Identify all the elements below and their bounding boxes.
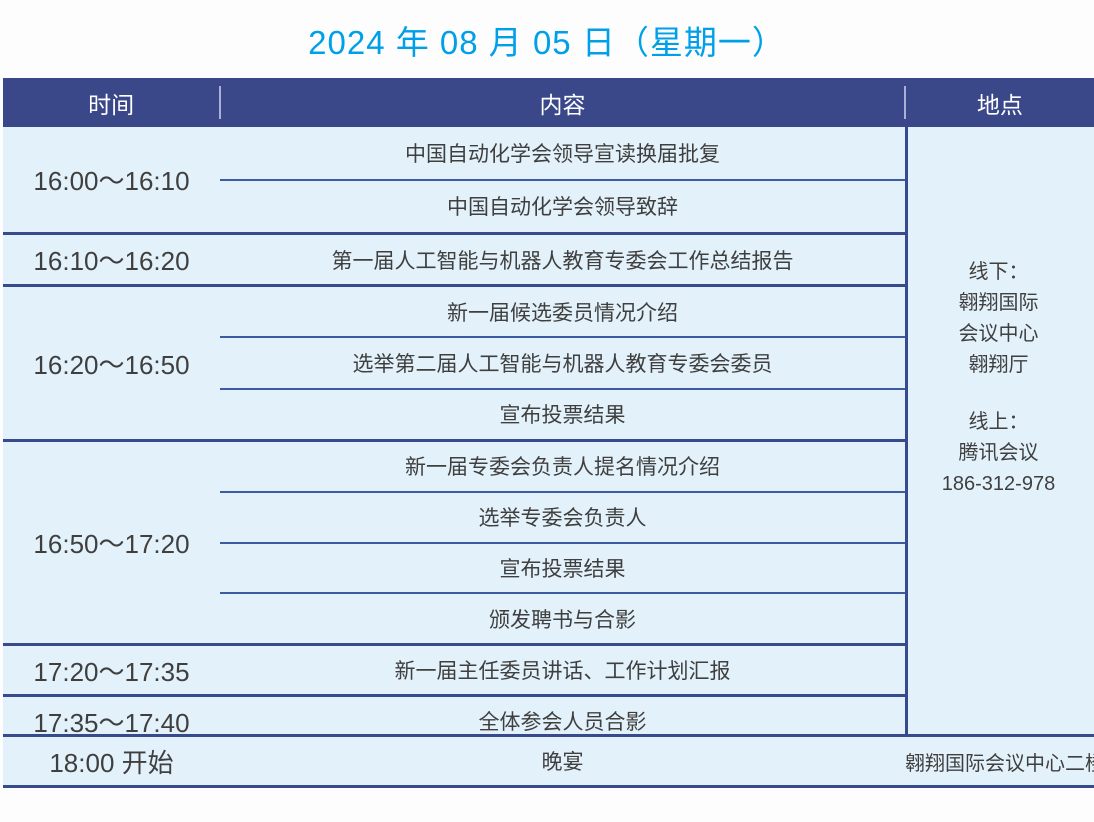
place-offline-line1: 翱翔国际 [905,288,1092,319]
dinner-content: 晚宴 [220,746,905,776]
place-offline-label: 线下： [905,257,1092,288]
content-place-divider [905,127,908,737]
column-header-time: 时间 [3,86,219,120]
table-row-content-group: 新一届专委会负责人提名情况介绍 选举专委会负责人 宣布投票结果 颁发聘书与合影 [220,439,905,643]
schedule-table: 时间 内容 地点 16:00～16:10 16:10～16:20 16:20～1… [3,78,1094,788]
list-item: 新一届候选委员情况介绍 [220,287,905,336]
column-header-content: 内容 [221,86,903,120]
place-online-label: 线上： [905,407,1092,438]
dinner-place: 翱翔国际会议中心二楼 [905,747,1094,776]
list-item: 第一届人工智能与机器人教育专委会工作总结报告 [220,235,905,284]
place-offline-line2: 会议中心 [905,319,1092,350]
table-row-content-group: 第一届人工智能与机器人教育专委会工作总结报告 [220,232,905,284]
table-row-time: 16:00～16:10 [3,127,220,232]
place-online-line2: 186-312-978 [905,469,1092,500]
list-item: 选举专委会负责人 [220,491,905,542]
table-row-content-group: 新一届主任委员讲话、工作计划汇报 [220,643,905,694]
table-row-content-group: 中国自动化学会领导宣读换届批复 中国自动化学会领导致辞 [220,127,905,232]
table-row-time: 16:50～17:20 [3,439,220,643]
content-column: 中国自动化学会领导宣读换届批复 中国自动化学会领导致辞 第一届人工智能与机器人教… [220,127,905,788]
time-column: 16:00～16:10 16:10～16:20 16:20～16:50 16:5… [3,127,220,788]
list-item: 新一届专委会负责人提名情况介绍 [220,442,905,491]
list-item: 选举第二届人工智能与机器人教育专委会委员 [220,336,905,387]
table-header-row: 时间 内容 地点 [3,78,1094,127]
list-item: 宣布投票结果 [220,388,905,439]
table-row-time: 16:20～16:50 [3,284,220,439]
dinner-time: 18:00 开始 [3,743,220,780]
list-item: 新一届主任委员讲话、工作计划汇报 [220,646,905,694]
list-item: 宣布投票结果 [220,542,905,593]
list-item: 中国自动化学会领导致辞 [220,179,905,233]
place-online-line1: 腾讯会议 [905,438,1092,469]
table-body: 16:00～16:10 16:10～16:20 16:20～16:50 16:5… [3,127,1094,788]
table-row-content-group: 新一届候选委员情况介绍 选举第二届人工智能与机器人教育专委会委员 宣布投票结果 [220,284,905,439]
column-header-place: 地点 [906,86,1094,120]
place-offline-line3: 翱翔厅 [905,350,1092,381]
table-row-time: 16:10～16:20 [3,232,220,284]
place-offline-block: 线下： 翱翔国际 会议中心 翱翔厅 [905,257,1092,381]
list-item: 颁发聘书与合影 [220,592,905,643]
place-online-block: 线上： 腾讯会议 186-312-978 [905,407,1092,500]
place-column: 线下： 翱翔国际 会议中心 翱翔厅 线上： 腾讯会议 186-312-978 [905,127,1092,788]
schedule-page: 2024 年 08 月 05 日（星期一） 时间 内容 地点 16:00～16:… [0,0,1094,822]
table-row-time: 17:20～17:35 [3,643,220,694]
page-title: 2024 年 08 月 05 日（星期一） [0,22,1094,64]
table-row-dinner: 18:00 开始 晚宴 翱翔国际会议中心二楼 [3,734,1094,785]
list-item: 中国自动化学会领导宣读换届批复 [220,127,905,179]
